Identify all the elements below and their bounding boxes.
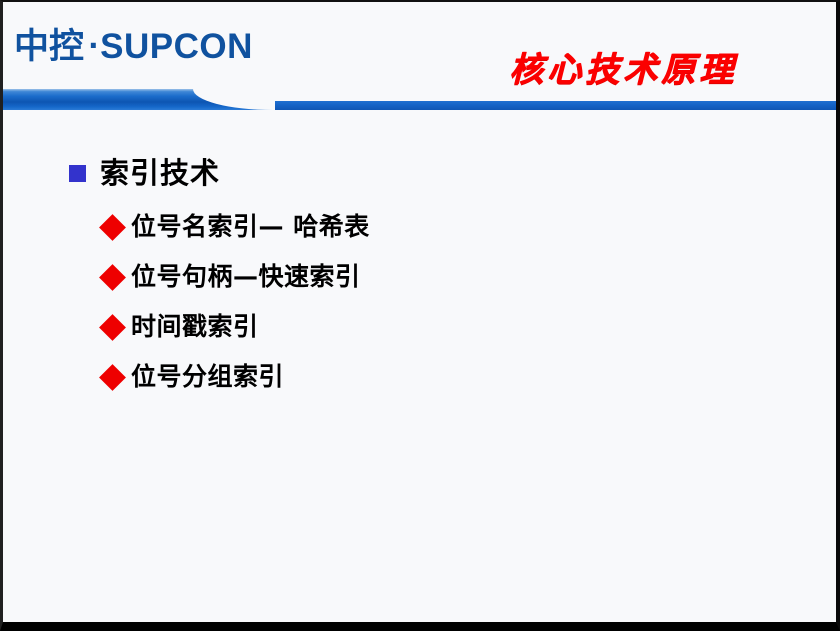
list-item-label: 位号句柄—快速索引	[131, 262, 361, 292]
slide-title: 核心技术原理	[423, 50, 823, 90]
square-bullet-icon	[69, 165, 86, 182]
list-item-label: 位号分组索引	[131, 362, 284, 392]
topic-heading-label: 索引技术	[100, 156, 220, 190]
header-accent-bar-thick	[3, 89, 275, 110]
diamond-bullet-icon	[99, 314, 126, 341]
list-item: 时间戳索引	[103, 310, 370, 344]
list-item: 位号分组索引	[103, 360, 370, 394]
list-item-label: 时间戳索引	[131, 312, 259, 342]
bullet-list: 位号名索引— 哈希表 位号句柄—快速索引 时间戳索引 位号分组索引	[103, 210, 370, 394]
logo-english-text: SUPCON	[100, 27, 253, 66]
diamond-bullet-icon	[99, 214, 126, 241]
logo-chinese-text: 中控	[14, 27, 84, 67]
slide-header: 中控·SUPCON 核心技术原理	[3, 2, 836, 110]
logo-separator-dot: ·	[84, 29, 100, 62]
list-item: 位号名索引— 哈希表	[103, 210, 370, 244]
diamond-bullet-icon	[99, 264, 126, 291]
diamond-bullet-icon	[99, 364, 126, 391]
list-item: 位号句柄—快速索引	[103, 260, 370, 294]
presentation-slide: 中控·SUPCON 核心技术原理 索引技术 位号名索引— 哈希表 位号句柄—快速…	[0, 0, 840, 631]
topic-heading: 索引技术	[69, 156, 220, 190]
supcon-logo: 中控·SUPCON	[14, 27, 253, 69]
list-item-label: 位号名索引— 哈希表	[131, 212, 370, 242]
slide-body: 索引技术 位号名索引— 哈希表 位号句柄—快速索引 时间戳索引 位号分组索引	[3, 110, 836, 622]
